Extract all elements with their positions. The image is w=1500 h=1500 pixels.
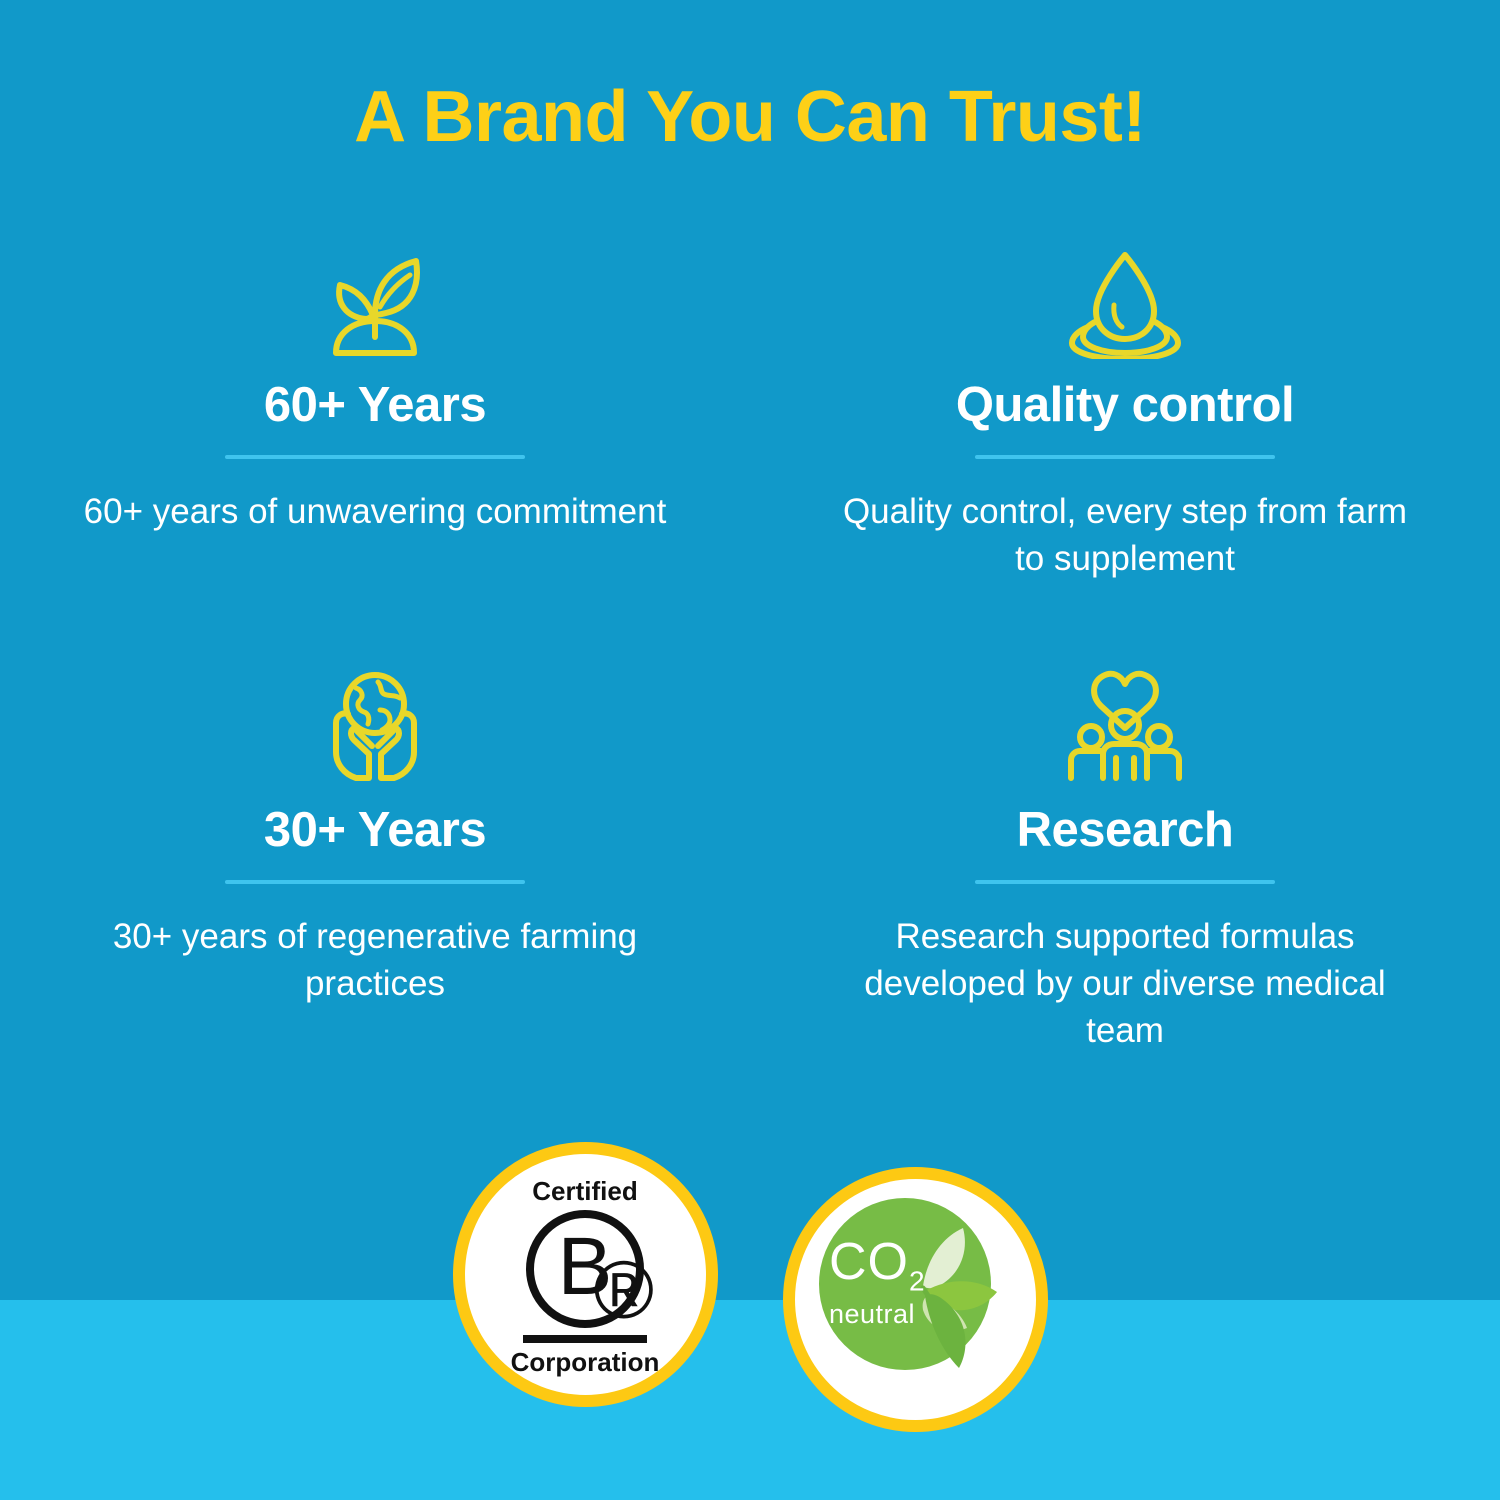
feature-card-30-years: 30+ Years 30+ years of regenerative farm… [0,665,750,1054]
bcorp-rule [523,1335,647,1343]
feature-card-quality-control: Quality control Quality control, every s… [750,240,1500,665]
co2-lockup: CO2 neutral [795,1180,1035,1420]
water-drop-icon [1066,240,1184,360]
registered-trademark-icon: ® [594,1250,654,1332]
co2-text-block: CO2 neutral [829,1236,979,1330]
sprout-icon [316,240,434,360]
features-grid: 60+ Years 60+ years of unwavering commit… [0,240,1500,1054]
infographic-canvas: A Brand You Can Trust! 60+ Years [0,0,1500,1500]
feature-divider [975,880,1275,884]
co2-subscript: 2 [909,1265,926,1296]
feature-body: 30+ years of regenerative farming practi… [75,914,675,1007]
feature-body: Research supported formulas developed by… [825,914,1425,1054]
family-heart-icon [1061,665,1189,785]
co2-main-text: CO2 [829,1236,979,1295]
feature-heading: 30+ Years [264,805,486,856]
feature-body: 60+ years of unwavering commitment [84,489,667,536]
bcorp-lockup: Certified B ® Corporation [465,1174,706,1375]
feature-body: Quality control, every step from farm to… [825,489,1425,582]
feature-heading: Research [1017,805,1234,856]
page-title: A Brand You Can Trust! [0,78,1500,157]
feature-divider [225,455,525,459]
co2-neutral-badge[interactable]: CO2 neutral [783,1167,1048,1432]
bcorp-b-mark: B ® [526,1210,644,1328]
feature-divider [225,880,525,884]
globe-in-hands-icon [316,665,434,785]
co2-neutral-text: neutral [829,1299,979,1330]
feature-card-research: Research Research supported formulas dev… [750,665,1500,1054]
feature-heading: Quality control [956,380,1294,431]
feature-card-60-years: 60+ Years 60+ years of unwavering commit… [0,240,750,665]
feature-divider [975,455,1275,459]
feature-heading: 60+ Years [264,380,486,431]
certified-b-corporation-badge[interactable]: Certified B ® Corporation [453,1142,718,1407]
bcorp-corporation-text: Corporation [511,1349,660,1375]
bcorp-certified-text: Certified [532,1178,637,1204]
certification-badges: Certified B ® Corporation [0,1142,1500,1432]
